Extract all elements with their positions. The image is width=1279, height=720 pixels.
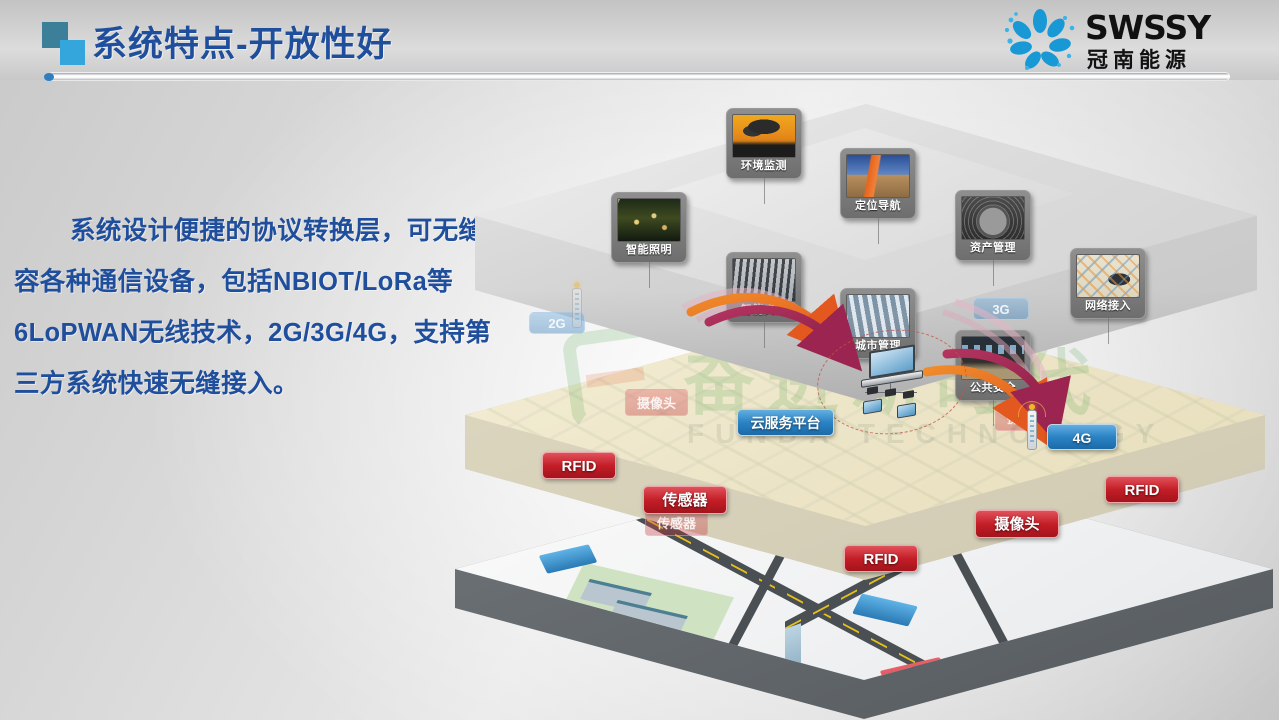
app-card-label: 环境监测 [732,158,796,175]
server-node-icon [863,398,882,414]
app-card-label: 网络接入 [1076,298,1140,315]
app-card-thumbnail [617,198,681,242]
slide-header: 系统特点-开放性好 SWSSY 冠南能源 [0,0,1279,80]
switch-icon [903,390,914,399]
iot-architecture-diagram: 奋进新时代 FUNDA TECHNOLOGY 摄像头 摄像头 传感器 2G 3G… [447,86,1279,686]
app-card-label: 资产管理 [961,240,1025,257]
app-card-thumbnail [846,154,910,198]
server-node-icon [897,402,916,418]
app-card-environment-monitoring[interactable]: 环境监测 [726,108,802,179]
app-card-label: 智能交通 [732,302,796,319]
app-card-thumbnail [961,196,1025,240]
app-card-thumbnail [961,336,1025,380]
app-card-positioning-navigation[interactable]: 定位导航 [840,148,916,219]
card-pole [993,400,994,426]
company-logo: SWSSY 冠南能源 [1003,6,1261,74]
app-card-label: 智能照明 [617,242,681,259]
app-card-network-access[interactable]: 网络接入 [1070,248,1146,319]
app-card-label: 公共安全 [961,380,1025,397]
app-card-thumbnail [732,114,796,158]
server-icon [849,348,933,420]
app-card-smart-lighting[interactable]: 智能照明 [611,192,687,263]
card-pole [764,178,765,204]
cell-tower-icon-ghost [569,282,583,324]
badge-cloud-platform[interactable]: 云服务平台 [737,409,834,436]
badge-rfid-3[interactable]: RFID [1105,476,1179,503]
switch-icon [885,388,896,397]
logo-subtitle: 冠南能源 [1087,44,1191,74]
card-pole [993,260,994,286]
badge-rfid-1[interactable]: RFID [542,452,616,479]
badge-camera[interactable]: 摄像头 [975,510,1059,538]
card-pole [1108,318,1109,344]
logo-wordmark: SWSSY [1085,8,1210,47]
page-title: 系统特点-开放性好 [92,16,393,67]
card-pole [649,262,650,288]
badge-rfid-2[interactable]: RFID [844,545,918,572]
app-card-thumbnail [732,258,796,302]
badge-4g[interactable]: 4G [1047,424,1117,450]
app-card-public-safety[interactable]: 公共安全 [955,330,1031,401]
header-divider-cap-icon [44,73,54,81]
card-pole [878,218,879,244]
cell-tower-icon [1024,404,1040,452]
header-square-light-icon [60,40,85,65]
badge-3g[interactable]: 3G [973,298,1029,320]
body-paragraph: 系统设计便捷的协议转换层，可无缝兼容各种通信设备，包括NBIOT/LoRa等6L… [14,206,514,410]
app-card-smart-traffic[interactable]: 智能交通 [726,252,802,323]
swssy-petal-mark-icon [1003,8,1077,70]
app-card-thumbnail [1076,254,1140,298]
card-pole [764,322,765,348]
app-card-asset-management[interactable]: 资产管理 [955,190,1031,261]
switch-icon [867,386,878,395]
badge-sensor[interactable]: 传感器 [643,486,727,514]
app-card-label: 定位导航 [846,198,910,215]
